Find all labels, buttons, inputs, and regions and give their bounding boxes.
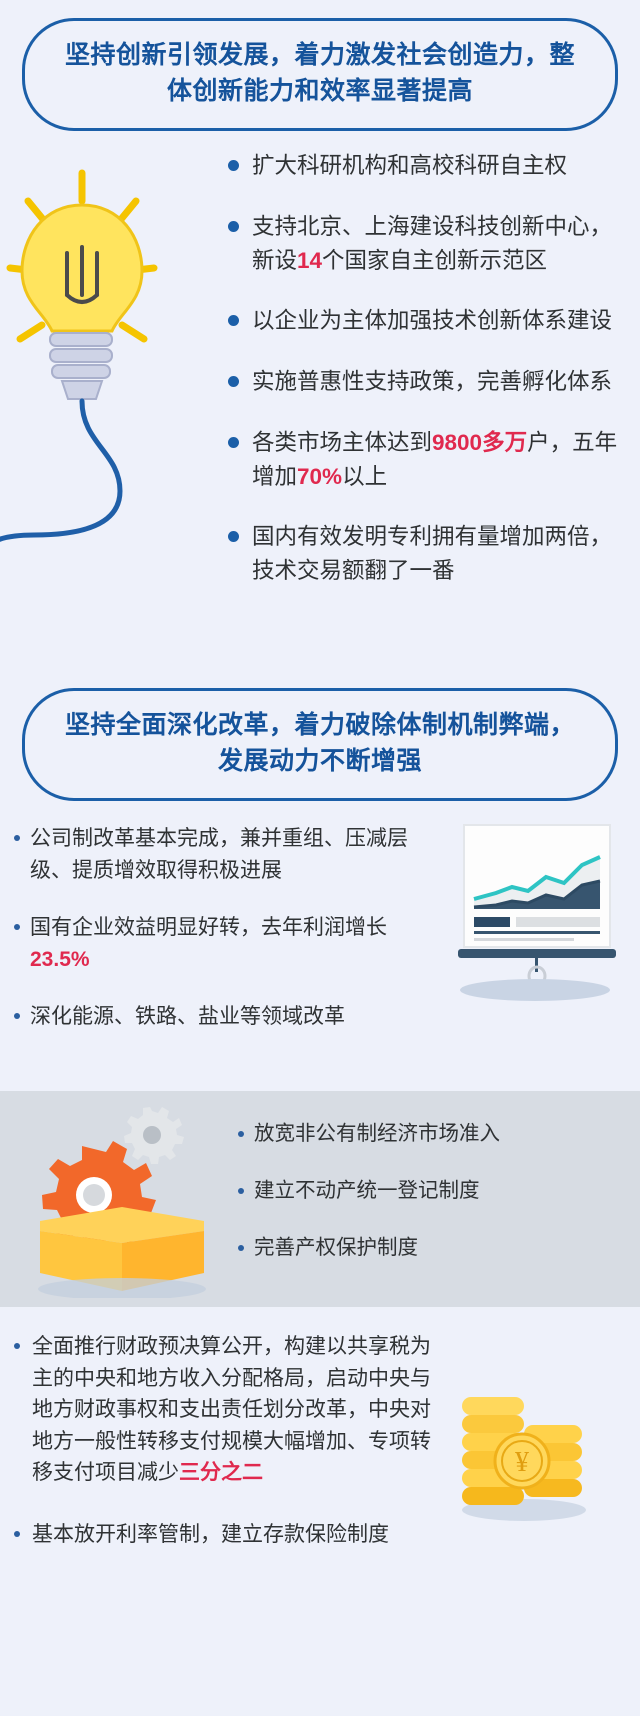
list-item-label: 支持北京、上海建设科技创新中心，新设14个国家自主创新示范区 xyxy=(252,210,620,278)
list-item: 以企业为主体加强技术创新体系建设 xyxy=(228,304,620,338)
bullet-dot-icon xyxy=(14,1531,20,1537)
presentation-chart-icon xyxy=(452,821,622,986)
list-item: 建立不动产统一登记制度 xyxy=(238,1176,618,1207)
list-item-label: 深化能源、铁路、盐业等领域改革 xyxy=(30,1001,414,1033)
bullet-dot-icon xyxy=(238,1188,244,1194)
list-item: 全面推行财政预决算公开，构建以共享税为主的中央和地方收入分配格局，启动中央与地方… xyxy=(14,1331,434,1489)
list-item-label: 公司制改革基本完成，兼并重组、压减层级、提质增效取得积极进展 xyxy=(30,823,414,886)
list-item-label: 国内有效发明专利拥有量增加两倍，技术交易额翻了一番 xyxy=(252,520,620,588)
highlight-number: 70% xyxy=(297,464,342,489)
section-4-bullet-list: 全面推行财政预决算公开，构建以共享税为主的中央和地方收入分配格局，启动中央与地方… xyxy=(14,1331,434,1580)
section-3-bullet-list: 放宽非公有制经济市场准入 建立不动产统一登记制度 完善产权保护制度 xyxy=(238,1119,618,1289)
section-2-heading-container: 坚持全面深化改革，着力破除体制机制弊端，发展动力不断增强 xyxy=(0,676,640,801)
list-item-label: 放宽非公有制经济市场准入 xyxy=(254,1119,618,1150)
list-item: 支持北京、上海建设科技创新中心，新设14个国家自主创新示范区 xyxy=(228,210,620,278)
gold-coins-icon: ¥ xyxy=(444,1367,604,1527)
list-item-label: 完善产权保护制度 xyxy=(254,1233,618,1264)
highlight-number: 14 xyxy=(297,248,322,273)
section-1-bullet-list: 扩大科研机构和高校科研自主权 支持北京、上海建设科技创新中心，新设14个国家自主… xyxy=(228,149,620,615)
highlight-number: 三分之二 xyxy=(179,1461,263,1484)
gear-box-icon xyxy=(22,1103,222,1298)
lightbulb-icon xyxy=(0,143,226,623)
bullet-dot-icon xyxy=(228,531,239,542)
list-item-label: 全面推行财政预决算公开，构建以共享税为主的中央和地方收入分配格局，启动中央与地方… xyxy=(32,1331,434,1489)
list-item: 各类市场主体达到9800多万户，五年增加70%以上 xyxy=(228,426,620,494)
list-item-label: 国有企业效益明显好转，去年利润增长23.5% xyxy=(30,912,414,975)
list-item: 扩大科研机构和高校科研自主权 xyxy=(228,149,620,183)
bullet-dot-icon xyxy=(228,315,239,326)
list-item: 国内有效发明专利拥有量增加两倍，技术交易额翻了一番 xyxy=(228,520,620,588)
list-item: 公司制改革基本完成，兼并重组、压减层级、提质增效取得积极进展 xyxy=(14,823,414,886)
bullet-dot-icon xyxy=(238,1131,244,1137)
bullet-dot-icon xyxy=(228,221,239,232)
bullet-dot-icon xyxy=(228,160,239,171)
list-item-label: 以企业为主体加强技术创新体系建设 xyxy=(252,304,620,338)
section-1-heading-container: 坚持创新引领发展，着力激发社会创造力，整体创新能力和效率显著提高 xyxy=(0,0,640,131)
section-2-bullet-list: 公司制改革基本完成，兼并重组、压减层级、提质增效取得积极进展 国有企业效益明显好… xyxy=(14,823,414,1059)
bullet-dot-icon xyxy=(14,835,20,841)
bullet-dot-icon xyxy=(238,1245,244,1251)
coin-currency-symbol: ¥ xyxy=(515,1447,529,1478)
bullet-dot-icon xyxy=(14,1343,20,1349)
list-item-label: 各类市场主体达到9800多万户，五年增加70%以上 xyxy=(252,426,620,494)
list-item: 国有企业效益明显好转，去年利润增长23.5% xyxy=(14,912,414,975)
highlight-number: 23.5% xyxy=(30,948,90,971)
list-item: 深化能源、铁路、盐业等领域改革 xyxy=(14,1001,414,1033)
section-3-body: 放宽非公有制经济市场准入 建立不动产统一登记制度 完善产权保护制度 xyxy=(0,1091,640,1307)
list-item: 完善产权保护制度 xyxy=(238,1233,618,1264)
section-1-body: 扩大科研机构和高校科研自主权 支持北京、上海建设科技创新中心，新设14个国家自主… xyxy=(0,131,640,676)
bullet-dot-icon xyxy=(228,437,239,448)
list-item-label: 实施普惠性支持政策，完善孵化体系 xyxy=(252,365,620,399)
bullet-dot-icon xyxy=(14,1013,20,1019)
list-item: 实施普惠性支持政策，完善孵化体系 xyxy=(228,365,620,399)
list-item-label: 扩大科研机构和高校科研自主权 xyxy=(252,149,620,183)
highlight-number: 9800多万 xyxy=(432,430,527,455)
list-item: 放宽非公有制经济市场准入 xyxy=(238,1119,618,1150)
section-2-heading: 坚持全面深化改革，着力破除体制机制弊端，发展动力不断增强 xyxy=(22,688,618,801)
section-2-body: 公司制改革基本完成，兼并重组、压减层级、提质增效取得积极进展 国有企业效益明显好… xyxy=(0,801,640,1091)
illustration-shadow xyxy=(460,979,610,1001)
bullet-dot-icon xyxy=(228,376,239,387)
list-item-label: 建立不动产统一登记制度 xyxy=(254,1176,618,1207)
list-item-label: 基本放开利率管制，建立存款保险制度 xyxy=(32,1519,434,1551)
section-1-heading: 坚持创新引领发展，着力激发社会创造力，整体创新能力和效率显著提高 xyxy=(22,18,618,131)
section-4-body: ¥ 全面推行财政预决算公开，构建以共享税为主的中央和地方收入分配格局，启动中央与… xyxy=(0,1307,640,1603)
bullet-dot-icon xyxy=(14,924,20,930)
list-item: 基本放开利率管制，建立存款保险制度 xyxy=(14,1519,434,1551)
